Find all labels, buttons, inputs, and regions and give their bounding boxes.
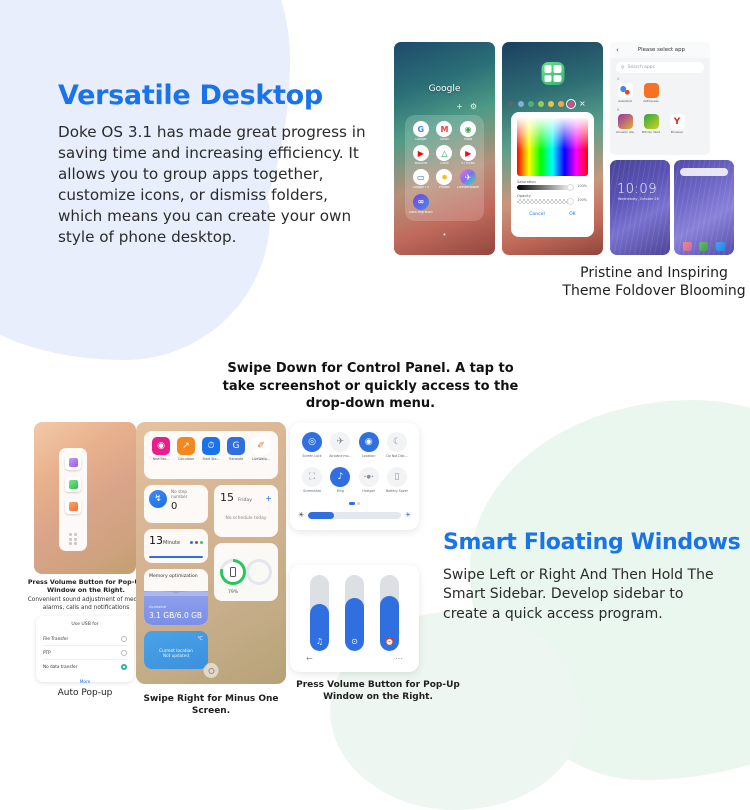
memory-value: 3.1 GB/6.0 GB <box>149 611 202 620</box>
shortcut-label: Start Sto... <box>199 457 223 461</box>
calendar-header: 15 Friday + <box>220 491 272 504</box>
livewallpaper-icon: ✐ <box>252 437 270 455</box>
gallery-icon <box>69 502 78 511</box>
battery-widget[interactable]: 79% <box>214 543 278 601</box>
location-icon: ◉ <box>359 432 379 452</box>
data-migration-icon: ∞ <box>413 194 429 210</box>
dock-icon-messages[interactable] <box>699 242 708 251</box>
ok-button[interactable]: OK <box>569 212 576 217</box>
quick-settings-row-1: ◎ Screen Lock ✈ Airplane mo... ◉ Locatio… <box>298 432 411 458</box>
swatch[interactable] <box>508 101 514 107</box>
saturation-value-field[interactable] <box>517 118 588 176</box>
app-item[interactable]: △ Drive <box>433 145 457 165</box>
sidebar-caption: Press Volume Button for Pop-Up Window on… <box>24 578 148 612</box>
shortcut-stopwatch[interactable]: ⏱ Start Sto... <box>199 437 223 461</box>
amazon-alexa-icon <box>618 114 633 129</box>
app-item[interactable]: ✸ Photos <box>433 169 457 189</box>
weather-status: Not updated <box>149 653 203 658</box>
app-label: Photos <box>433 186 457 189</box>
folder-app-2 <box>554 65 562 73</box>
app-label: YT Music <box>456 162 480 165</box>
lockscreen-date: Wednesday, October 26 <box>618 197 659 201</box>
app-item[interactable]: ◉ Maps <box>456 121 480 141</box>
app-label: AliExpress <box>642 99 660 103</box>
weather-widget[interactable]: ℃ Current location Not updated <box>144 631 208 669</box>
calendar-widget[interactable]: 15 Friday + No schedule today <box>214 485 278 537</box>
control-panel-card: ◎ Screen Lock ✈ Airplane mo... ◉ Locatio… <box>290 423 419 530</box>
sidebar-grip-handle[interactable] <box>69 533 77 545</box>
dialog-actions: Cancel OK <box>517 212 588 217</box>
app-label: Amazon Alexa <box>616 130 634 134</box>
opacity-slider[interactable]: 100% <box>517 199 573 204</box>
app-item[interactable]: Assistant <box>616 83 634 103</box>
home-dock <box>679 242 729 251</box>
lockscreen-clock: 10:09 <box>617 182 657 197</box>
usb-option-ptp[interactable]: PTP <box>43 646 127 660</box>
toggle-label: Airplane mo... <box>326 454 354 458</box>
calendar-day-name: Friday <box>238 498 252 503</box>
page-indicator: • <box>394 231 495 239</box>
shortcuts-widget: ◉ New Rec... ↗ Calculator ⏱ Start Sto...… <box>144 431 278 479</box>
folder-title: Google <box>394 84 495 94</box>
phone-lock-screen: 10:09 Wednesday, October 26 <box>610 160 670 255</box>
youtube-icon: ▶ <box>413 145 429 161</box>
toggle-location[interactable]: ◉ Location <box>355 432 383 458</box>
saturation-track <box>517 185 573 190</box>
brightness-track[interactable] <box>308 512 400 519</box>
app-label: Google TV <box>409 186 433 189</box>
usb-dialog-title: Use USB for <box>43 622 127 627</box>
smart-floating-windows-title: Smart Floating Windows <box>443 530 740 555</box>
volume-right-caption: Press Volume Button for Pop-Up Window on… <box>290 680 466 704</box>
smart-sidebar-panel[interactable] <box>59 448 87 551</box>
dock-icon-browser[interactable] <box>716 242 725 251</box>
opacity-knob[interactable] <box>567 198 574 205</box>
aliexpress-icon <box>644 83 659 98</box>
toggle-battery-saver[interactable]: ▯ Battery Saver <box>383 467 411 493</box>
folder-app-3 <box>544 75 552 83</box>
app-label: Bitcoin Wallet <box>642 130 660 134</box>
swatch[interactable] <box>518 101 524 107</box>
app-row: Assistant AliExpress <box>610 81 710 105</box>
toggle-screen-lock[interactable]: ◎ Screen Lock <box>298 432 326 458</box>
saturation-slider[interactable]: 100% <box>517 185 573 190</box>
swatch[interactable] <box>558 101 564 107</box>
sidebar-app-message[interactable] <box>65 477 81 492</box>
swatch[interactable] <box>548 101 554 107</box>
shortcut-label: Calculator <box>174 457 198 461</box>
timer-dots <box>190 541 203 544</box>
theme-caption: Pristine and Inspiring Theme Foldover Bl… <box>560 264 748 301</box>
close-icon[interactable]: × <box>579 99 586 108</box>
weather-degree: ℃ <box>149 636 203 642</box>
select-app-title: Please select app <box>619 47 704 53</box>
back-icon[interactable]: ← <box>306 654 313 663</box>
app-label: YouTube <box>409 162 433 165</box>
add-event-icon[interactable]: + <box>265 494 272 503</box>
toggle-label: Screen Lock <box>298 454 326 458</box>
drive-icon: △ <box>436 145 452 161</box>
memory-available-label: Available <box>149 604 166 609</box>
app-item[interactable]: Amazon Alexa <box>616 114 634 134</box>
stopwatch-icon: ⏱ <box>202 437 220 455</box>
toggle-screenshot[interactable]: ⛶ Screenshot <box>298 467 326 493</box>
shortcut-row: ◉ New Rec... ↗ Calculator ⏱ Start Sto...… <box>149 437 273 461</box>
step-text: No step number 0 <box>171 490 203 518</box>
screen-lock-icon: ◎ <box>302 432 322 452</box>
screenshot-icon: ⛶ <box>302 467 322 487</box>
home-button[interactable] <box>204 663 219 678</box>
usb-option-no-data-transfer[interactable]: No data transfer <box>43 660 127 673</box>
step-label: No step number <box>171 490 203 500</box>
memory-widget[interactable]: Memory optimization Available 3.1 GB/6.0… <box>144 569 208 625</box>
app-label: Data Migration <box>409 211 433 214</box>
bitcoin-wallet-icon <box>644 114 659 129</box>
opacity-value: 100% <box>577 198 587 202</box>
timer-widget[interactable]: 13 Minute <box>144 529 208 563</box>
battery-icon <box>230 567 236 577</box>
battery-ring <box>220 559 246 585</box>
usb-option-label: PTP <box>43 650 51 655</box>
app-label: Browser <box>668 130 686 134</box>
sidebar-caption-sub: Convenient sound adjustment of media, al… <box>24 597 148 612</box>
step-value: 0 <box>171 502 203 512</box>
browser-icon: Y <box>670 114 685 129</box>
notes-icon <box>69 458 78 467</box>
folder-icon-green[interactable] <box>541 62 564 85</box>
google-icon: G <box>413 121 429 137</box>
shortcut-label: LiveWallp... <box>249 457 273 461</box>
toggle-label: Hotspot <box>355 489 383 493</box>
volume-popup-card: ♫ ⊙ ⏰ ← ⋯ <box>290 565 419 672</box>
sidebar-caption-title: Press Volume Button for Pop-Up Window on… <box>24 578 148 595</box>
calendar-day-number: 15 <box>220 491 234 504</box>
phone-color-picker: × Saturation 100% Opacity 100% Cancel OK <box>502 42 603 255</box>
volume-slider-alarm[interactable]: ⏰ <box>380 575 399 651</box>
brightness-low-icon: ☀ <box>298 511 304 519</box>
app-item[interactable]: ▶ YouTube <box>409 145 433 165</box>
folder-app-grid: G Google M Gmail ◉ Maps ▶ YouTube △ Dr <box>409 121 480 218</box>
volume-footer: ← ⋯ <box>302 654 407 663</box>
control-panel-heading: Swipe Down for Control Panel. A tap to t… <box>218 360 523 413</box>
ring-icon: ♪ <box>330 467 350 487</box>
phone-home-screen <box>674 160 734 255</box>
usb-option-label: No data transfer <box>43 664 77 669</box>
search-input[interactable]: ⚲ Search apps <box>616 62 704 73</box>
calendar-empty-text: No schedule today <box>220 516 272 521</box>
wallpaper-waves <box>610 160 670 255</box>
alarm-icon: ⏰ <box>380 637 399 646</box>
moon-icon: ☾ <box>387 432 407 452</box>
swatch[interactable] <box>528 101 534 107</box>
timer-header: 13 Minute <box>149 534 203 547</box>
app-label: Assistant <box>616 99 634 103</box>
radio-button-selected[interactable] <box>121 664 127 670</box>
usb-dialog: Use USB for File Transfer PTP No data tr… <box>36 616 134 682</box>
yt-music-icon: ▶ <box>460 145 476 161</box>
app-label: Google <box>409 138 433 141</box>
volume-slider-ring[interactable]: ⊙ <box>345 575 364 651</box>
saturation-value: 100% <box>577 184 587 188</box>
maps-icon: ◉ <box>460 121 476 137</box>
shortcut-livewallpaper[interactable]: ✐ LiveWallp... <box>249 437 273 461</box>
home-search-bar[interactable] <box>680 168 728 176</box>
battery-saver-icon: ▯ <box>387 467 407 487</box>
toggle-hotspot[interactable]: ∙●∙ Hotspot <box>355 467 383 493</box>
timer-value: 13 <box>149 534 163 547</box>
app-label: LiveWallpaper <box>456 186 480 189</box>
hotspot-icon: ∙●∙ <box>359 467 379 487</box>
radio-button[interactable] <box>121 650 127 656</box>
swatch-selected[interactable] <box>568 101 574 107</box>
app-item[interactable]: ▭ Google TV <box>409 169 433 189</box>
shortcut-label: New Rec... <box>149 457 173 461</box>
photos-icon: ✸ <box>436 169 452 185</box>
recorder-icon: ◉ <box>152 437 170 455</box>
swatch[interactable] <box>538 101 544 107</box>
minus-one-caption: Swipe Right for Minus One Screen. <box>126 694 296 718</box>
search-placeholder: Search apps <box>628 65 655 70</box>
versatile-desktop-title: Versatile Desktop <box>58 80 323 111</box>
usb-option-file-transfer[interactable]: File Transfer <box>43 632 127 646</box>
quick-settings-row-2: ⛶ Screenshot ♪ Ring ∙●∙ Hotspot ▯ Batter… <box>298 467 411 493</box>
gear-icon[interactable]: ⚙ <box>470 102 477 111</box>
toggle-label: Ring <box>326 489 354 493</box>
timer-progress-bar <box>149 556 203 558</box>
folder-app-1 <box>544 65 552 73</box>
toggle-label: Location <box>355 454 383 458</box>
app-item[interactable]: ▶ YT Music <box>456 145 480 165</box>
shortcut-label: Translate <box>224 457 248 461</box>
app-label: Drive <box>433 162 457 165</box>
panel-page-dots <box>298 502 411 505</box>
sidebar-app-notes[interactable] <box>65 455 81 470</box>
app-label: Maps <box>456 138 480 141</box>
ring-icon: ⊙ <box>345 637 364 646</box>
folder-app-4 <box>554 75 562 83</box>
toggle-label: Do Not Dist... <box>383 454 411 458</box>
color-swatch-row: × <box>508 99 597 108</box>
translate-icon: G <box>227 437 245 455</box>
smart-floating-windows-body: Swipe Left or Right And Then Hold The Sm… <box>443 566 723 624</box>
phone-google-folder: Google + ⚙ G Google M Gmail ◉ Maps <box>394 42 495 255</box>
brightness-high-icon: ☀ <box>405 511 411 519</box>
volume-slider-media[interactable]: ♫ <box>310 575 329 651</box>
folder-actions: + ⚙ <box>456 102 477 111</box>
toggle-do-not-disturb[interactable]: ☾ Do Not Dist... <box>383 432 411 458</box>
running-icon: ↯ <box>149 490 167 508</box>
battery-percent: 79% <box>228 590 238 595</box>
message-icon <box>69 480 78 489</box>
color-picker-dialog: Saturation 100% Opacity 100% Cancel OK <box>511 112 594 237</box>
brightness-slider[interactable]: ☀ ☀ <box>298 511 411 519</box>
dock-icon-gallery[interactable] <box>683 242 692 251</box>
more-button[interactable]: More <box>43 679 127 684</box>
app-item[interactable]: ✈ LiveWallpaper <box>456 169 480 189</box>
step-counter-widget[interactable]: ↯ No step number 0 <box>144 485 208 523</box>
select-app-header: ‹ Please select app <box>610 42 710 58</box>
app-item[interactable]: G Google <box>409 121 433 141</box>
phone-select-app: ‹ Please select app ⚲ Search apps A Assi… <box>610 42 710 155</box>
toggle-label: Screenshot <box>298 489 326 493</box>
app-item[interactable]: Y Browser <box>668 114 686 134</box>
music-icon: ♫ <box>310 637 329 646</box>
assistant-icon <box>618 83 633 98</box>
usb-option-label: File Transfer <box>43 636 68 641</box>
volume-sliders: ♫ ⊙ ⏰ <box>302 575 407 651</box>
add-icon[interactable]: + <box>456 102 463 111</box>
phone-smart-sidebar <box>34 422 136 574</box>
memory-wave <box>144 586 208 596</box>
airplane-icon: ✈ <box>330 432 350 452</box>
shortcut-new-recording[interactable]: ◉ New Rec... <box>149 437 173 461</box>
auto-popup-caption: Auto Pop-up <box>36 688 134 700</box>
phone-minus-one-screen: ◉ New Rec... ↗ Calculator ⏱ Start Sto...… <box>136 422 286 684</box>
shortcut-calculator[interactable]: ↗ Calculator <box>174 437 198 461</box>
sidebar-app-gallery[interactable] <box>65 499 81 514</box>
saturation-knob[interactable] <box>567 184 574 191</box>
app-item[interactable]: Bitcoin Wallet <box>642 114 660 134</box>
app-item[interactable]: AliExpress <box>642 83 660 103</box>
app-row: Amazon Alexa Bitcoin Wallet Y Browser <box>610 112 710 136</box>
toggle-label: Battery Saver <box>383 489 411 493</box>
opacity-track <box>517 199 573 204</box>
home-icon <box>208 668 214 674</box>
gmail-icon: M <box>436 121 452 137</box>
calculator-icon: ↗ <box>177 437 195 455</box>
app-label: Gmail <box>433 138 457 141</box>
toggle-airplane-mode[interactable]: ✈ Airplane mo... <box>326 432 354 458</box>
search-icon: ⚲ <box>621 65 625 71</box>
shortcut-translate[interactable]: G Translate <box>224 437 248 461</box>
app-item[interactable]: ∞ Data Migration <box>409 194 433 214</box>
google-tv-icon: ▭ <box>413 169 429 185</box>
app-item[interactable]: M Gmail <box>433 121 457 141</box>
timer-unit: Minute <box>163 540 180 546</box>
memory-title: Memory optimization <box>149 574 203 579</box>
more-icon[interactable]: ⋯ <box>395 654 403 663</box>
brightness-fill <box>308 512 334 519</box>
cancel-button[interactable]: Cancel <box>529 212 545 217</box>
radio-button[interactable] <box>121 636 127 642</box>
poster-stage: Versatile Desktop Doke OS 3.1 has made g… <box>0 0 750 750</box>
livewallpaper-icon: ✈ <box>460 169 476 185</box>
secondary-ring <box>246 559 272 585</box>
versatile-desktop-body: Doke OS 3.1 has made great progress in s… <box>58 122 368 248</box>
folder-card: G Google M Gmail ◉ Maps ▶ YouTube △ Dr <box>405 115 484 221</box>
toggle-ring[interactable]: ♪ Ring <box>326 467 354 493</box>
